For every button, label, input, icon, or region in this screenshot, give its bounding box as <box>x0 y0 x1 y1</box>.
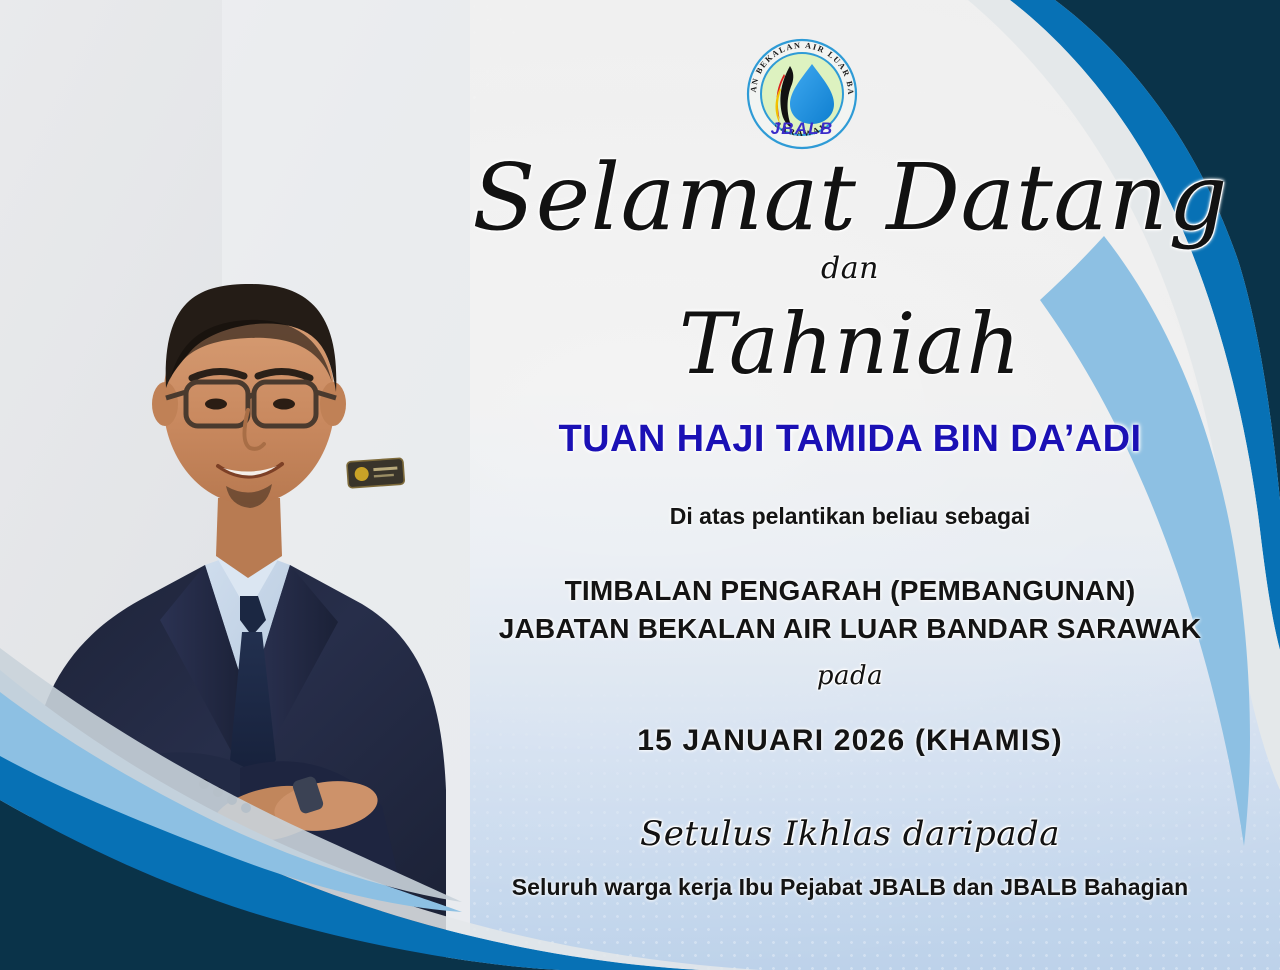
closing-from: Seluruh warga kerja Ibu Pejabat JBALB da… <box>420 874 1280 901</box>
position-line-2: JABATAN BEKALAN AIR LUAR BANDAR SARAWAK <box>420 610 1280 648</box>
honoree-name: TUAN HAJI TAMIDA BIN DA’ADI <box>420 418 1280 461</box>
position-line-1: TIMBALAN PENGARAH (PEMBANGUNAN) <box>420 572 1280 610</box>
date-value: 15 JANUARI 2026 (KHAMIS) <box>420 724 1280 758</box>
greeting-conjunction: dan <box>420 254 1280 284</box>
honoree-photo <box>0 0 470 970</box>
appointment-reason: Di atas pelantikan beliau sebagai <box>420 503 1280 530</box>
appointment-position: TIMBALAN PENGARAH (PEMBANGUNAN) JABATAN … <box>420 572 1280 648</box>
poster-text-block: Selamat Datang dan Tahniah TUAN HAJI TAM… <box>420 0 1280 970</box>
honoree-portrait-illustration <box>0 0 470 970</box>
closing-script: Setulus Ikhlas daripada <box>420 814 1280 854</box>
name-badge <box>347 458 405 488</box>
date-label: pada <box>420 661 1280 691</box>
congratulations-poster: JABATAN BEKALAN AIR LUAR BANDAR SARAWAK … <box>0 0 1280 970</box>
greeting-second: Tahniah <box>420 302 1280 386</box>
greeting-main: Selamat Datang <box>420 152 1280 244</box>
